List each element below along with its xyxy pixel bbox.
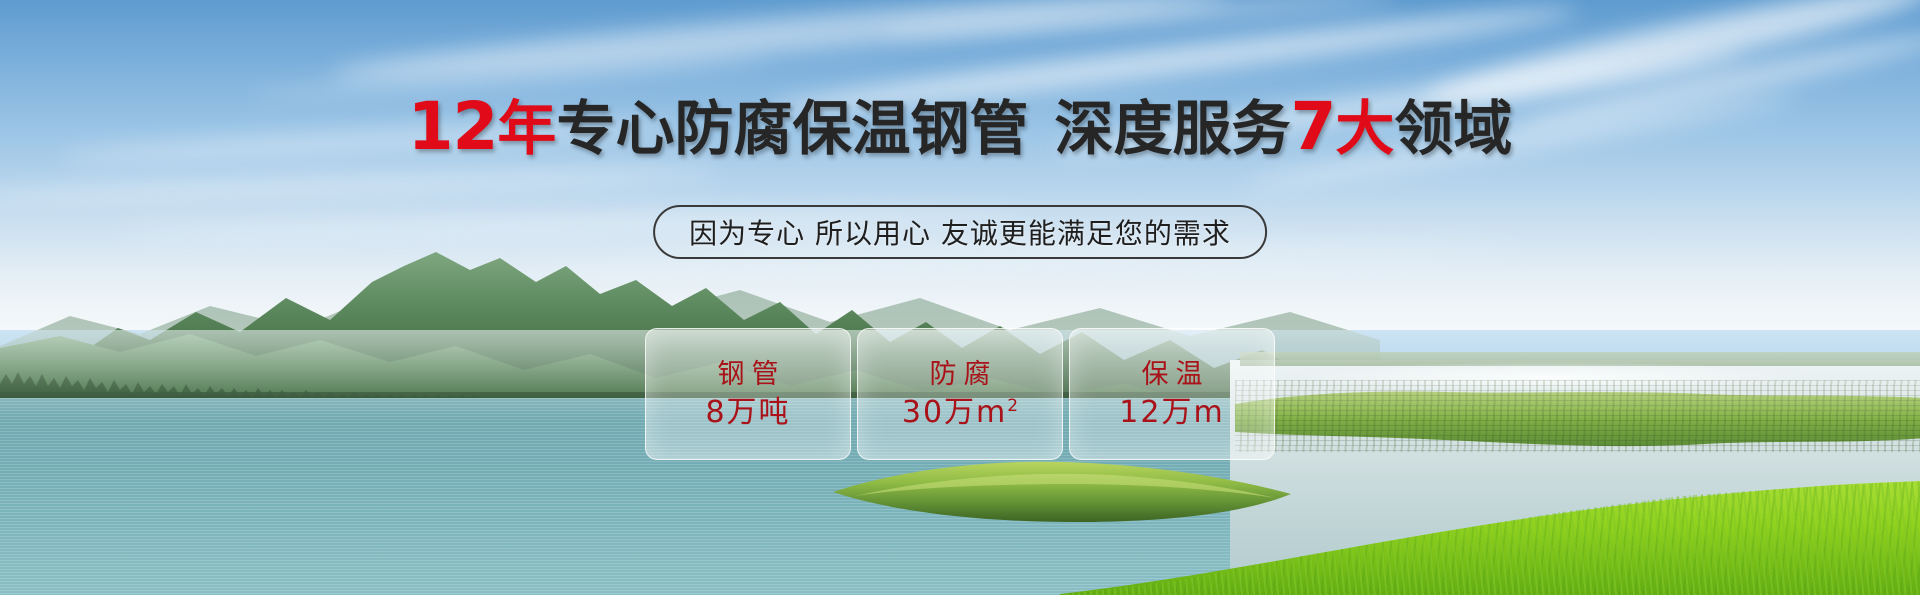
headline-fields-unit: 大 <box>1335 94 1394 163</box>
stat-card-value: 30万m2 <box>902 398 1018 428</box>
headline-main-text: 专心防腐保温钢管 <box>556 94 1028 163</box>
headline-fields-text: 领域 <box>1394 94 1512 163</box>
stat-card-title: 防腐 <box>923 361 998 388</box>
stat-card-title: 保温 <box>1135 361 1210 388</box>
banner-subtitle-text: 因为专心 所以用心 友诚更能满足您的需求 <box>689 212 1231 252</box>
stat-card-value: 8万吨 <box>705 398 790 428</box>
banner-content: 12年专心防腐保温钢管深度服务7大领域 因为专心 所以用心 友诚更能满足您的需求… <box>0 0 1920 595</box>
headline-service-text: 深度服务 <box>1054 94 1290 163</box>
stat-card-group: 钢管 8万吨 防腐 30万m2 保温 12万m <box>645 328 1275 460</box>
banner-subtitle-pill: 因为专心 所以用心 友诚更能满足您的需求 <box>653 205 1267 259</box>
banner-headline: 12年专心防腐保温钢管深度服务7大领域 <box>0 94 1920 160</box>
promo-banner: 12年专心防腐保温钢管深度服务7大领域 因为专心 所以用心 友诚更能满足您的需求… <box>0 0 1920 595</box>
stat-card-value-superscript: 2 <box>1007 396 1018 416</box>
stat-card-value: 12万m <box>1119 398 1224 428</box>
headline-years-unit: 年 <box>497 94 556 163</box>
stat-card-anticorrosion[interactable]: 防腐 30万m2 <box>857 328 1063 460</box>
stat-card-value-text: 30万m <box>902 395 1007 430</box>
headline-years-number: 12 <box>408 88 498 165</box>
stat-card-title: 钢管 <box>711 361 786 388</box>
headline-fields-number: 7 <box>1290 88 1335 165</box>
stat-card-steel-pipe[interactable]: 钢管 8万吨 <box>645 328 851 460</box>
stat-card-insulation[interactable]: 保温 12万m <box>1069 328 1275 460</box>
